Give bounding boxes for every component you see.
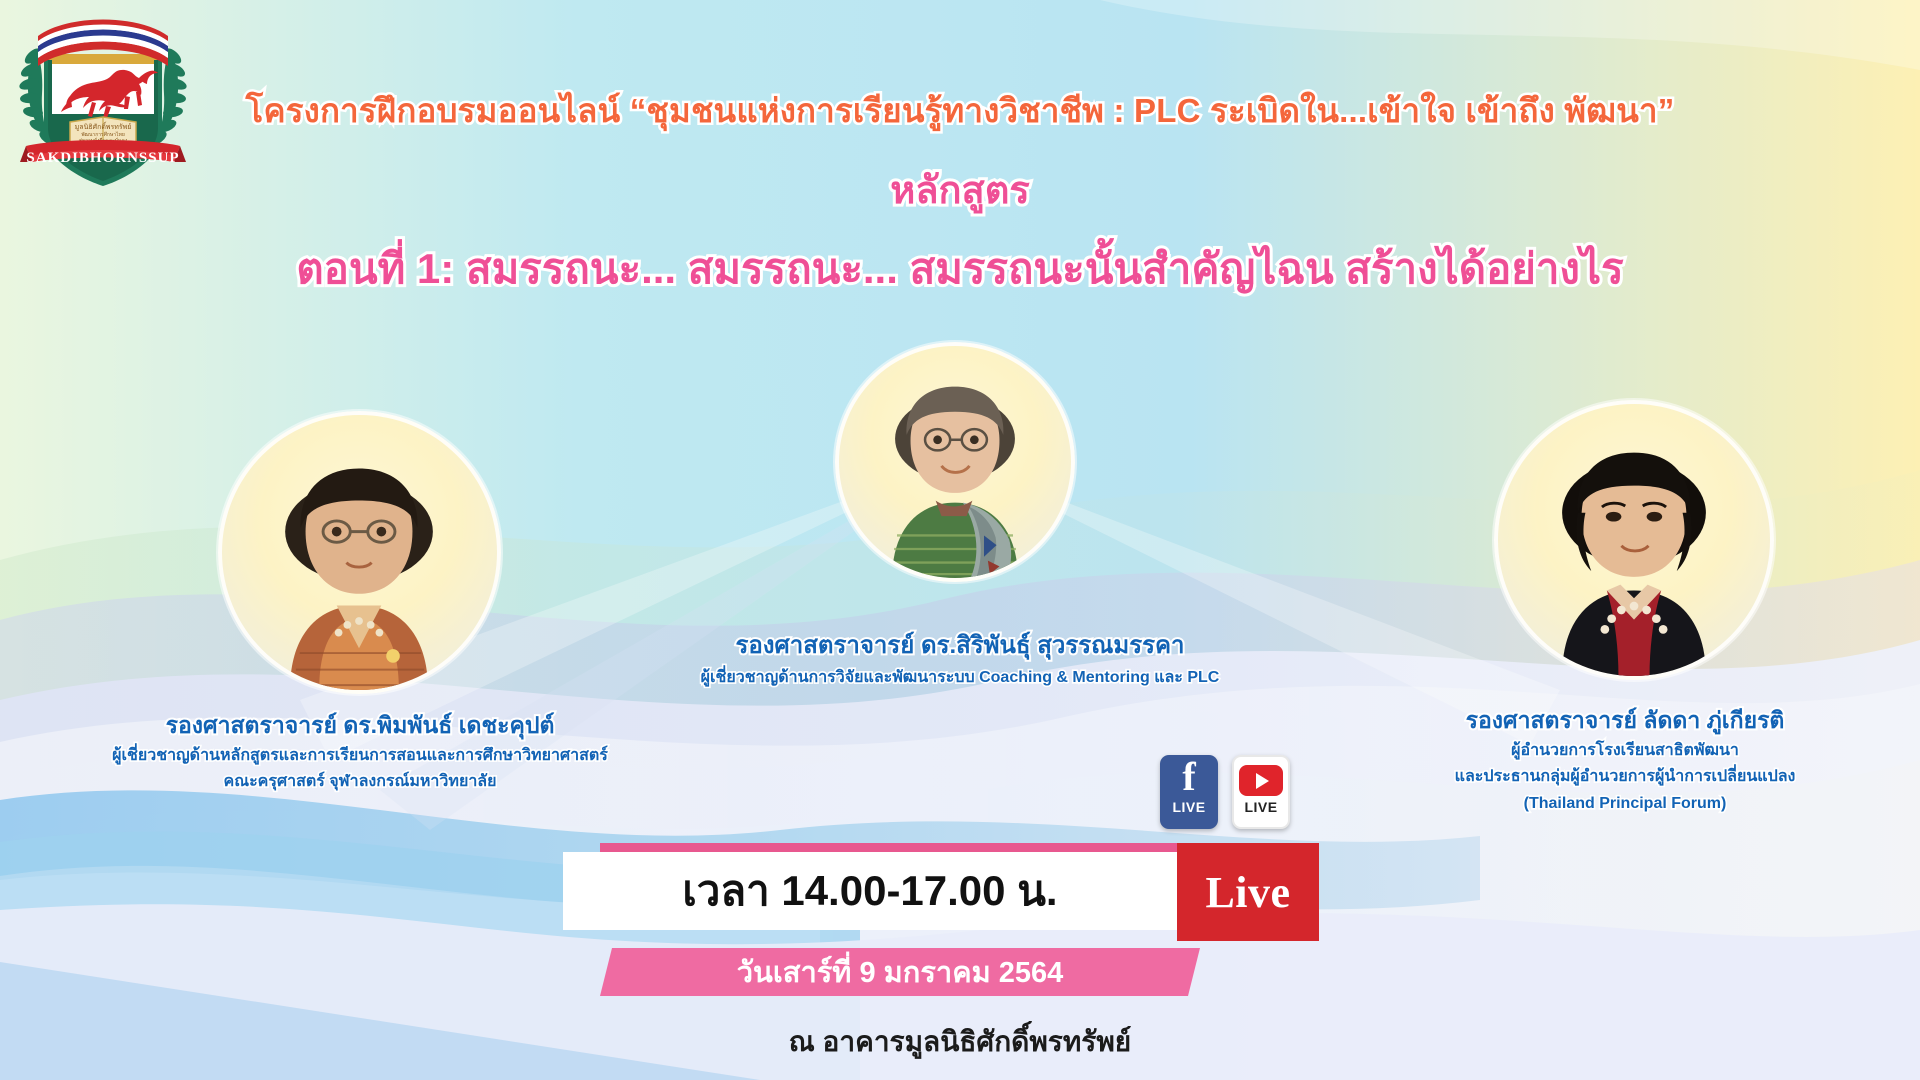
- speaker-name-left: รองศาสตราจารย์ ดร.พิมพันธ์ เดชะคุปต์: [0, 710, 720, 740]
- speaker-caption-right: รองศาสตราจารย์ ลัดดา ภู่เกียรติ ผู้อำนวย…: [1330, 705, 1920, 814]
- facebook-live-badge[interactable]: f LIVE: [1160, 755, 1218, 829]
- program-title: โครงการฝึกอบรมออนไลน์ “ชุมชนแห่งการเรียน…: [0, 84, 1920, 137]
- speaker-subtitle-left-2: คณะครุศาสตร์ จุฬาลงกรณ์มหาวิทยาลัย: [0, 771, 720, 792]
- date-banner: วันเสาร์ที่ 9 มกราคม 2564: [600, 948, 1200, 996]
- facebook-icon: f: [1182, 758, 1195, 796]
- speaker-caption-center: รองศาสตราจารย์ ดร.สิริพันธุ์ สุวรรณมรรคา…: [570, 630, 1350, 688]
- event-date: วันเสาร์ที่ 9 มกราคม 2564: [737, 949, 1064, 995]
- speaker-subtitle-right-3: (Thailand Principal Forum): [1330, 793, 1920, 814]
- time-banner: เวลา 14.00-17.00 น.: [563, 852, 1177, 930]
- speaker-name-center: รองศาสตราจารย์ ดร.สิริพันธุ์ สุวรรณมรรคา: [570, 630, 1350, 662]
- event-time: เวลา 14.00-17.00 น.: [682, 858, 1057, 924]
- speaker-subtitle-right-1: ผู้อำนวยการโรงเรียนสาธิตพัฒนา: [1330, 740, 1920, 761]
- social-live-badges: f LIVE LIVE: [1160, 755, 1290, 829]
- live-badge-block: Live: [1177, 843, 1319, 941]
- curriculum-label: หลักสูตร: [0, 159, 1920, 220]
- speaker-portrait-left: [218, 411, 501, 694]
- speaker-subtitle-left-1: ผู้เชี่ยวชาญด้านหลักสูตรและการเรียนการสอ…: [0, 745, 720, 766]
- poster-headings: โครงการฝึกอบรมออนไลน์ “ชุมชนแห่งการเรียน…: [0, 0, 1920, 302]
- live-label: Live: [1205, 867, 1290, 918]
- youtube-live-badge[interactable]: LIVE: [1232, 755, 1290, 829]
- event-venue: ณ อาคารมูลนิธิศักดิ์พรทรัพย์: [0, 1020, 1920, 1064]
- speaker-subtitle-center-1: ผู้เชี่ยวชาญด้านการวิจัยและพัฒนาระบบ Coa…: [570, 667, 1350, 688]
- speaker-caption-left: รองศาสตราจารย์ ดร.พิมพันธ์ เดชะคุปต์ ผู้…: [0, 710, 720, 793]
- speaker-portrait-center: [835, 342, 1075, 582]
- speaker-subtitle-right-2: และประธานกลุ่มผู้อำนวยการผู้นำการเปลี่ยน…: [1330, 766, 1920, 787]
- youtube-live-label: LIVE: [1244, 799, 1277, 815]
- speaker-name-right: รองศาสตราจารย์ ลัดดา ภู่เกียรติ: [1330, 705, 1920, 735]
- facebook-live-label: LIVE: [1172, 799, 1205, 815]
- episode-title: ตอนที่ 1: สมรรถนะ... สมรรถนะ... สมรรถนะน…: [0, 236, 1920, 302]
- youtube-icon: [1239, 765, 1283, 796]
- speaker-portrait-right: [1494, 400, 1774, 680]
